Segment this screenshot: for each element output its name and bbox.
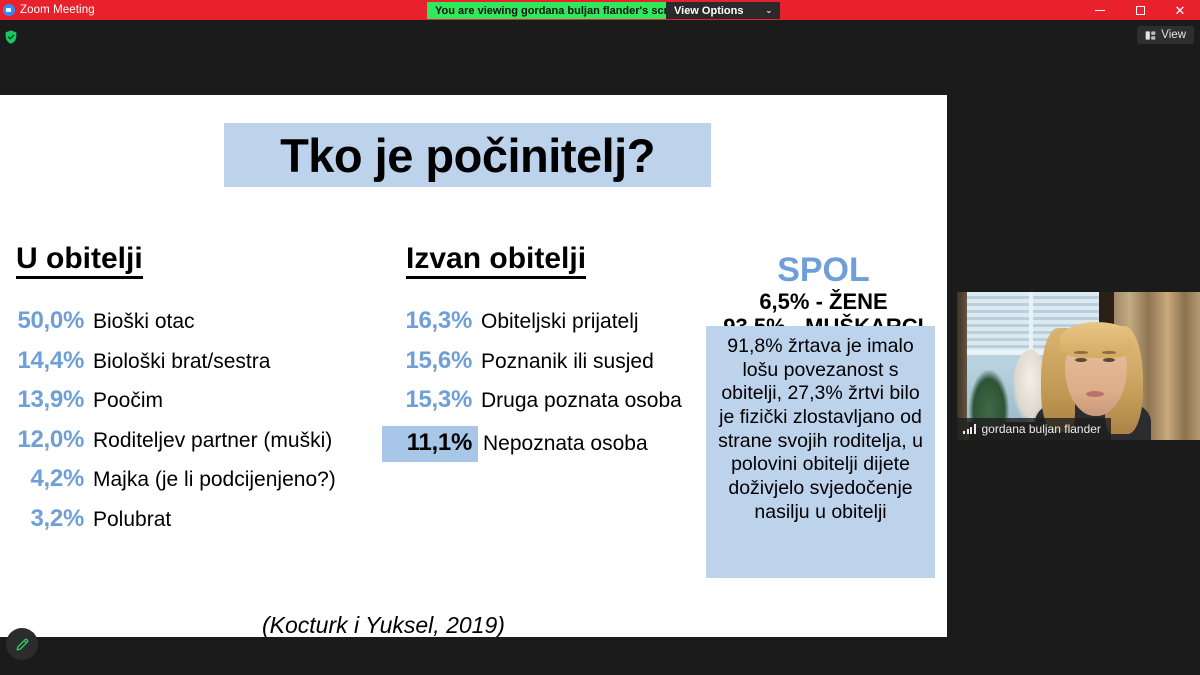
stat-percent: 13,9%: [0, 386, 84, 414]
stat-row: 15,3% Druga poznata osoba: [388, 386, 708, 414]
annotate-button[interactable]: [6, 628, 38, 660]
stat-percent: 14,4%: [0, 347, 84, 375]
slide-title-band: Tko je počinitelj?: [224, 123, 711, 187]
eye-left: [1075, 358, 1087, 362]
source-citation: (Kocturk i Yuksel, 2019): [262, 612, 505, 637]
stat-percent: 50,0%: [0, 307, 84, 335]
stat-row: 13,9% Poočim: [0, 386, 390, 414]
stat-percent-highlighted: 11,1%: [382, 426, 478, 462]
stat-label: Roditeljev partner (muški): [93, 429, 332, 453]
stat-row: 14,4% Biološki brat/sestra: [0, 347, 390, 375]
stat-label: Bioški otac: [93, 310, 195, 334]
zoom-logo-icon: [3, 4, 15, 16]
stat-label: Biološki brat/sestra: [93, 350, 270, 374]
stat-label: Majka (je li podcijenjeno?): [93, 468, 336, 492]
minimize-icon: [1095, 10, 1105, 11]
stat-row: 3,2% Polubrat: [0, 505, 390, 533]
participant-name-bar: gordana buljan flander: [957, 418, 1111, 440]
slide-title-text: Tko je počinitelj?: [280, 132, 655, 179]
sharing-banner-text: You are viewing gordana buljan flander's…: [435, 5, 687, 17]
lips: [1086, 391, 1104, 397]
view-options-label: View Options: [674, 5, 743, 17]
stat-percent: 15,3%: [388, 386, 472, 414]
column-heading-u-obitelji: U obitelji: [16, 243, 143, 279]
stat-label: Poznanik ili susjed: [481, 350, 654, 374]
minimize-button[interactable]: [1080, 0, 1120, 20]
window-title: Zoom Meeting: [20, 4, 95, 16]
participant-name: gordana buljan flander: [982, 422, 1101, 436]
stat-label: Poočim: [93, 389, 163, 413]
stat-row: 16,3% Obiteljski prijatelj: [388, 307, 708, 335]
screen-sharing-banner: You are viewing gordana buljan flander's…: [427, 2, 695, 19]
meeting-stage: View Tko je počinitelj? U obitelji 50,0%…: [0, 20, 1200, 675]
close-button[interactable]: ✕: [1160, 0, 1200, 20]
signal-bars-icon: [963, 424, 976, 434]
shared-slide: Tko je počinitelj? U obitelji 50,0% Bioš…: [0, 95, 947, 637]
eyebrow-left: [1074, 351, 1088, 354]
stat-row-highlighted: 11,1% Nepoznata osoba: [388, 426, 708, 454]
close-icon: ✕: [1175, 4, 1186, 17]
gender-title: SPOL: [700, 253, 947, 289]
maximize-button[interactable]: [1120, 0, 1160, 20]
eye-right: [1103, 358, 1115, 362]
stat-row: 12,0% Roditeljev partner (muški): [0, 426, 390, 454]
stat-label: Obiteljski prijatelj: [481, 310, 639, 334]
stat-percent: 16,3%: [388, 307, 472, 335]
window-controls: ✕: [1080, 0, 1200, 20]
zoom-meeting-window: Zoom Meeting You are viewing gordana bul…: [0, 0, 1200, 675]
stat-percent: 4,2%: [0, 465, 84, 493]
maximize-icon: [1136, 6, 1145, 15]
layout-view-icon: [1145, 30, 1156, 41]
stat-list-u-obitelji: 50,0% Bioški otac 14,4% Biološki brat/se…: [0, 307, 390, 544]
stat-row: 50,0% Bioški otac: [0, 307, 390, 335]
stat-row: 15,6% Poznanik ili susjed: [388, 347, 708, 375]
view-options-button[interactable]: View Options ⌄: [666, 2, 780, 19]
stat-label: Druga poznata osoba: [481, 389, 682, 413]
stat-percent: 3,2%: [0, 505, 84, 533]
stat-percent: 12,0%: [0, 426, 84, 454]
view-button-label: View: [1161, 29, 1186, 41]
stat-label: Polubrat: [93, 508, 171, 532]
eyebrow-right: [1102, 351, 1116, 354]
gender-female-line: 6,5% - ŽENE: [700, 289, 947, 315]
shield-check-icon[interactable]: [2, 28, 20, 46]
hair-top: [1060, 322, 1134, 358]
chevron-down-icon: ⌄: [765, 6, 772, 15]
view-layout-button[interactable]: View: [1137, 26, 1194, 44]
stat-percent: 15,6%: [388, 347, 472, 375]
stat-label: Nepoznata osoba: [483, 432, 648, 456]
stat-row: 4,2% Majka (je li podcijenjeno?): [0, 465, 390, 493]
fact-callout-box: 91,8% žrtava je imalo lošu povezanost s …: [706, 326, 935, 578]
column-heading-izvan-obitelji: Izvan obitelji: [406, 243, 586, 279]
pencil-annotate-icon: [14, 636, 31, 653]
stat-list-izvan-obitelji: 16,3% Obiteljski prijatelj 15,6% Poznani…: [388, 307, 708, 465]
participant-video-thumbnail[interactable]: gordana buljan flander: [957, 292, 1200, 440]
